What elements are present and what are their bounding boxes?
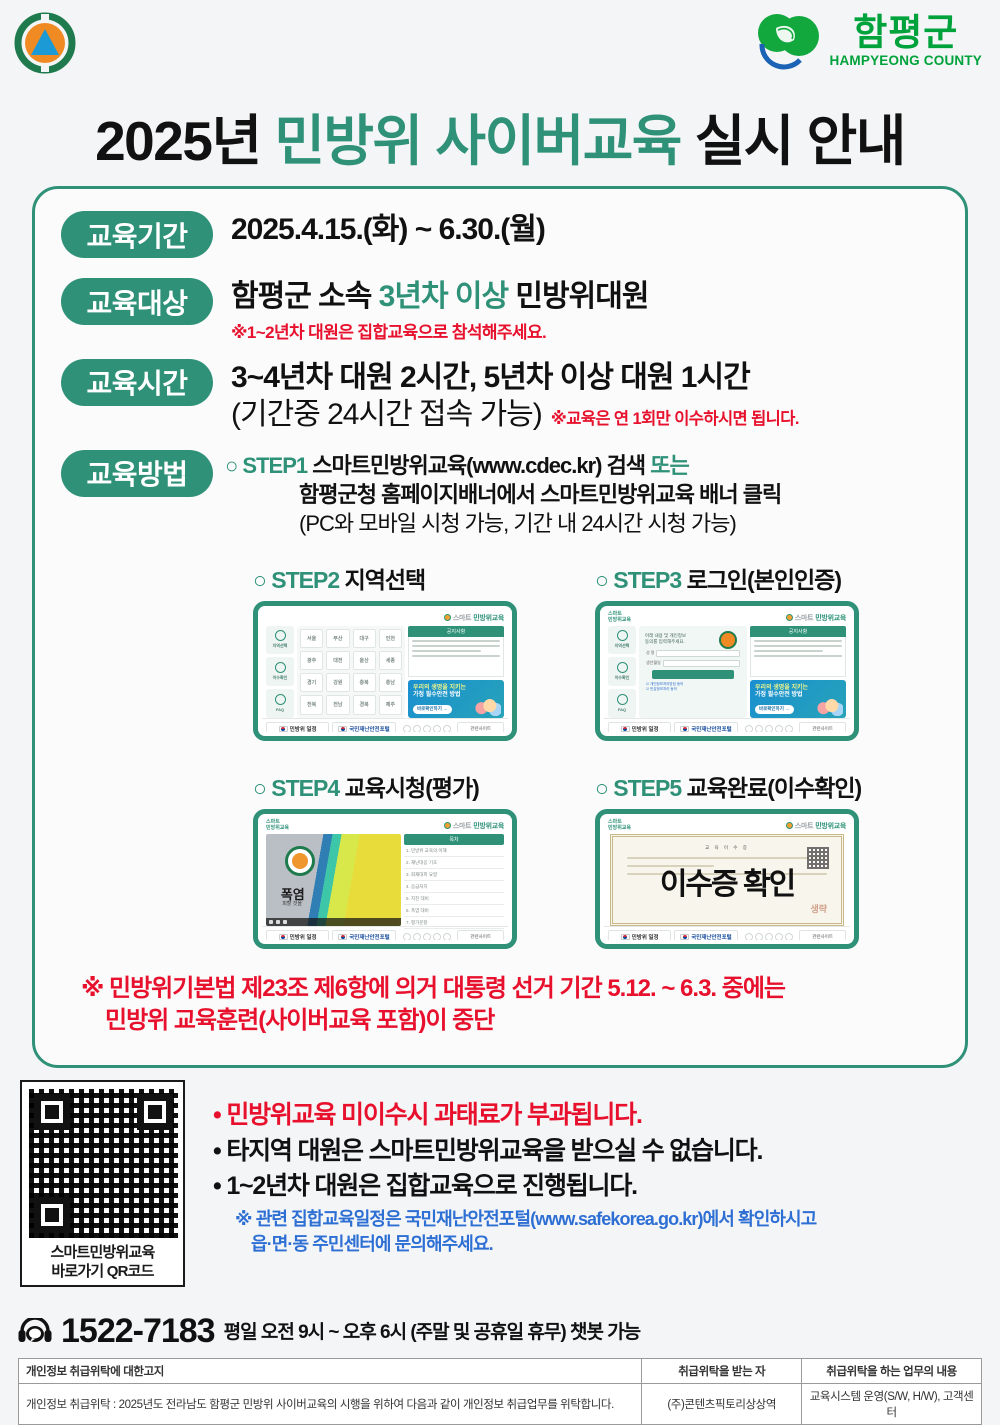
step5-title: 교육완료(이수확인)	[687, 775, 862, 801]
step5-circle-icon: ○	[595, 775, 608, 801]
sc2-banner: 우리의 생명을 지키는가정 필수안전 방법 바로확인하기 →	[408, 680, 504, 718]
subnote-line2: 읍·면·동 주민센터에 문의해주세요.	[251, 1232, 816, 1257]
qr-caption-line1: 스마트민방위교육	[50, 1244, 154, 1261]
sc4-video-player: 폭염 피할 것을	[266, 834, 401, 926]
sc2-brand-dot-icon	[444, 614, 451, 621]
bullet-dot-3: •	[213, 1172, 221, 1200]
bullet-list: • 민방위교육 미이수시 과태료가 부과됩니다. • 타지역 대원은 스마트민방…	[213, 1080, 816, 1257]
hours-note: ※교육은 연 1회만 이수하시면 됩니다.	[551, 405, 799, 429]
sc4-video-emblem-icon	[285, 846, 315, 876]
sc5-certificate: 교 육 이 수 증 생략 이수증 확인	[604, 834, 850, 926]
step5-screenshot: 스마트민방위교육 스마트민방위교육 교 육 이 수 증 생략	[595, 809, 859, 949]
qr-caption: 스마트민방위교육 바로가기 QR코드	[29, 1243, 176, 1281]
table-header-1: 개인정보 취급위탁에 대한고지	[19, 1359, 642, 1384]
contact-hours: 평일 오전 9시 ~ 오후 6시 (주말 및 공휴일 휴무) 챗봇 가능	[224, 1317, 641, 1346]
hampyeong-county-logo: 함평군 HAMPYEONG COUNTY	[754, 10, 982, 72]
step1-or: 또는	[650, 453, 688, 478]
step1-line2: 함평군청 홈페이지배너에서 스마트민방위교육 배너 클릭	[299, 480, 781, 509]
subnote-line1: ※ 관련 집합교육일정은 국민재난안전포털(www.safekorea.go.k…	[235, 1207, 816, 1232]
table-cell-1: 개인정보 취급위탁 : 2025년도 전라남도 함평군 민방위 사이버교육의 시…	[19, 1384, 642, 1425]
badge-period: 교육기간	[61, 211, 213, 258]
civil-defense-logo-icon	[14, 12, 76, 74]
table-header-2: 취급위탁을 받는 자	[642, 1359, 802, 1384]
election-notice-line2: 민방위 교육훈련(사이버교육 포함)이 중단	[105, 1005, 965, 1037]
sc3-brand-right: 스마트민방위교육	[786, 613, 846, 623]
step2-circle-icon: ○	[253, 567, 266, 593]
row-method: 교육방법 ○ STEP1 스마트민방위교육(www.cdec.kr) 검색 또는…	[61, 450, 965, 539]
bullet-text-3: 1~2년차 대원은 집합교육으로 진행됩니다.	[226, 1172, 637, 1200]
step4-head: ○ STEP4 교육시청(평가)	[253, 769, 563, 803]
title-highlight: 민방위 사이버교육	[274, 110, 681, 172]
step3-head: ○ STEP3 로그인(본인인증)	[595, 561, 905, 595]
sc5-brand-right: 스마트민방위교육	[786, 821, 846, 831]
bullet-text-1: 민방위교육 미이수시 과태료가 부과됩니다.	[226, 1101, 641, 1129]
badge-target: 교육대상	[61, 278, 213, 325]
row-target: 교육대상 함평군 소속 3년차 이상 민방위대원 ※1~2년차 대원은 집합교육…	[61, 278, 965, 343]
election-notice-line1: ※ 민방위기본법 제23조 제6항에 의거 대통령 선거 기간 5.12. ~ …	[81, 973, 965, 1005]
sc3-login-form: 아래 내용 및 개인정보동의를 입력해주세요. 성 명 생년월일	[639, 626, 747, 718]
target-note: ※1~2년차 대원은 집합교육으로 참석해주세요.	[231, 318, 648, 343]
step4-block: ○ STEP4 교육시청(평가) 스마트민방위교육 스마트민방위교육	[253, 769, 563, 949]
poster-header: 함평군 HAMPYEONG COUNTY	[0, 0, 1000, 90]
sc2-brand-right: 스마트민방위교육	[444, 613, 504, 623]
step4-label: STEP4	[271, 775, 339, 801]
target-value: 함평군 소속 3년차 이상 민방위대원	[231, 279, 648, 316]
county-mark-icon	[754, 10, 820, 72]
table-header-row: 개인정보 취급위탁에 대한고지 취급위탁을 받는 자 취급위탁을 하는 업무의 …	[19, 1359, 982, 1384]
contact-number[interactable]: 1522-7183	[61, 1312, 215, 1351]
bullet-dot-2: •	[213, 1137, 221, 1165]
sc3-sidebar: 지역선택 이수확인 FAQ	[608, 626, 636, 718]
page-title: 2025년 민방위 사이버교육 실시 안내	[0, 96, 1000, 176]
step2-screenshot: 스마트민방위교육 지역선택 이수확인 FAQ 서울부산대구인천 광주대전울산세종…	[253, 601, 517, 741]
title-part1: 2025년	[95, 110, 274, 172]
bullet-item-3: • 1~2년차 대원은 집합교육으로 진행됩니다.	[213, 1169, 816, 1205]
step1-line1: ○ STEP1 스마트민방위교육(www.cdec.kr) 검색 또는	[225, 451, 781, 480]
step3-title: 로그인(본인인증)	[687, 567, 841, 593]
sc2-region-grid: 서울부산대구인천 광주대전울산세종 경기강원충북충남 전북전남경북제주	[297, 626, 405, 718]
step3-screenshot: 스마트민방위교육 스마트민방위교육 지역선택 이수확인 FAQ 아래 내용 및 …	[595, 601, 859, 741]
sc2-notice-header: 공지사항	[408, 626, 504, 637]
sc4-video-sub: 피할 것을	[282, 900, 302, 907]
target-highlight: 3년차 이상	[379, 280, 508, 313]
table-cell-3: 교육시스템 운영(S/W, H/W), 고객센터	[802, 1384, 982, 1425]
step2-title: 지역선택	[345, 567, 426, 593]
step1-label: STEP1	[242, 453, 307, 478]
table-header-3: 취급위탁을 하는 업무의 내용	[802, 1359, 982, 1384]
badge-method: 교육방법	[61, 450, 213, 497]
step3-circle-icon: ○	[595, 567, 608, 593]
step5-block: ○ STEP5 교육완료(이수확인) 스마트민방위교육 스마트민방위교육 교 육…	[595, 769, 905, 949]
bullet-item-1: • 민방위교육 미이수시 과태료가 부과됩니다.	[213, 1098, 816, 1134]
sc4-lesson-list: 목차 1. 민방위 교육의 이해 2. 재난대응 기초 3. 화재대피 요령 4…	[404, 834, 504, 926]
sc2-sidebar: 지역선택 이수확인 FAQ	[266, 626, 294, 718]
county-name-kr: 함평군	[853, 14, 958, 51]
step3-label: STEP3	[613, 567, 681, 593]
step3-block: ○ STEP3 로그인(본인인증) 스마트민방위교육 스마트민방위교육 지역선택	[595, 561, 905, 741]
contact-row: 1522-7183 평일 오전 9시 ~ 오후 6시 (주말 및 공휴일 휴무)…	[18, 1312, 640, 1351]
step4-screenshot: 스마트민방위교육 스마트민방위교육 폭염 피할 것을	[253, 809, 517, 949]
bottom-section: 스마트민방위교육 바로가기 QR코드 • 민방위교육 미이수시 과태료가 부과됩…	[0, 1080, 1000, 1287]
badge-hours: 교육시간	[61, 359, 213, 406]
hours-line2: (기간중 24시간 접속 가능)	[231, 397, 542, 434]
step1-circle-icon: ○	[225, 453, 237, 478]
sc5-brand-left: 스마트민방위교육	[608, 820, 631, 831]
sc2-footer: 민방위 일정 국민재난안전포털 관련사이트	[262, 718, 508, 732]
qr-caption-line2: 바로가기 QR코드	[51, 1263, 153, 1280]
step5-head: ○ STEP5 교육완료(이수확인)	[595, 769, 905, 803]
step1-text-a: 스마트민방위교육(www.cdec.kr) 검색	[312, 453, 650, 478]
table-row: 개인정보 취급위탁 : 2025년도 전라남도 함평군 민방위 사이버교육의 시…	[19, 1384, 982, 1425]
target-pre: 함평군 소속	[231, 280, 379, 313]
row-hours: 교육시간 3~4년차 대원 2시간, 5년차 이상 대원 1시간 (기간중 24…	[61, 359, 965, 434]
step2-head: ○ STEP2 지역선택	[253, 561, 563, 595]
sc3-footer: 민방위 일정 국민재난안전포털 관련사이트	[604, 718, 850, 732]
step2-block: ○ STEP2 지역선택 스마트민방위교육 지역선택	[253, 561, 563, 741]
sc4-brand-right: 스마트민방위교육	[444, 821, 504, 831]
sc3-notice-header: 공지사항	[750, 626, 846, 637]
hours-line1: 3~4년차 대원 2시간, 5년차 이상 대원 1시간	[231, 360, 799, 397]
step1-line3: (PC와 모바일 시청 가능, 기간 내 24시간 시청 가능)	[299, 509, 781, 538]
step-screenshot-grid: ○ STEP2 지역선택 스마트민방위교육 지역선택	[253, 561, 965, 949]
info-panel: 교육기간 2025.4.15.(화) ~ 6.30.(월) 교육대상 함평군 소…	[32, 186, 968, 1068]
target-post: 민방위대원	[508, 280, 648, 313]
election-notice: ※ 민방위기본법 제23조 제6항에 의거 대통령 선거 기간 5.12. ~ …	[81, 973, 965, 1038]
qr-code-icon[interactable]	[29, 1089, 178, 1238]
qr-card[interactable]: 스마트민방위교육 바로가기 QR코드	[20, 1080, 185, 1287]
table-cell-2: (주)콘텐츠픽토리상상역	[642, 1384, 802, 1425]
bullet-dot-1: •	[213, 1101, 221, 1129]
county-name-en: HAMPYEONG COUNTY	[830, 54, 982, 68]
sc5-cert-stamp-icon: 생략	[810, 902, 827, 915]
title-part2: 실시 안내	[681, 110, 905, 172]
bullet-text-2: 타지역 대원은 스마트민방위교육을 받으실 수 없습니다.	[226, 1137, 762, 1165]
step4-title: 교육시청(평가)	[345, 775, 479, 801]
sc4-video-controls[interactable]	[266, 918, 401, 926]
sc4-brand-left: 스마트민방위교육	[266, 820, 289, 831]
headset-chat-icon	[18, 1318, 52, 1346]
step2-label: STEP2	[271, 567, 339, 593]
bullet-item-2: • 타지역 대원은 스마트민방위교육을 받으실 수 없습니다.	[213, 1134, 816, 1170]
sc3-banner: 우리의 생명을 지키는가정 필수안전 방법 바로확인하기 →	[750, 680, 846, 718]
period-value: 2025.4.15.(화) ~ 6.30.(월)	[231, 212, 545, 249]
step4-circle-icon: ○	[253, 775, 266, 801]
sc5-overlay-text: 이수증 확인	[604, 859, 850, 903]
privacy-consignment-table: 개인정보 취급위탁에 대한고지 취급위탁을 받는 자 취급위탁을 하는 업무의 …	[18, 1358, 982, 1425]
sc5-footer: 민방위 일정 국민재난안전포털 관련사이트	[604, 926, 850, 940]
sc3-brand-left: 스마트민방위교육	[608, 612, 631, 623]
step5-label: STEP5	[613, 775, 681, 801]
row-period: 교육기간 2025.4.15.(화) ~ 6.30.(월)	[61, 211, 965, 258]
bullet-subnote: ※ 관련 집합교육일정은 국민재난안전포털(www.safekorea.go.k…	[235, 1207, 816, 1257]
